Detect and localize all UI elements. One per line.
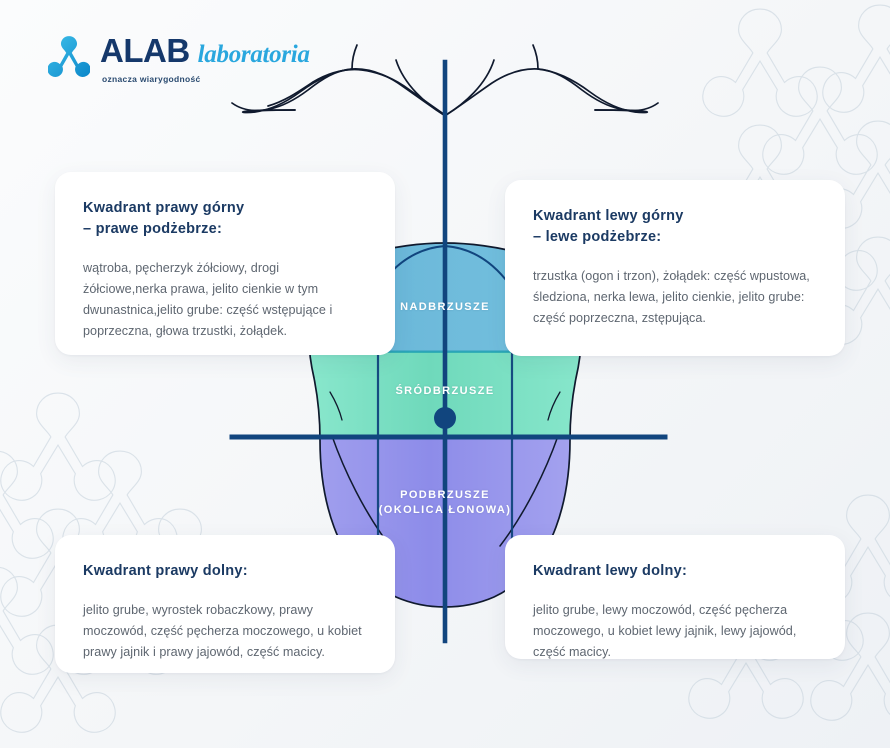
card-ruq-title: Kwadrant prawy górny – prawe podżebrze: [83,198,365,240]
card-right-upper-quadrant: Kwadrant prawy górny – prawe podżebrze: … [55,172,395,355]
card-right-lower-quadrant: Kwadrant prawy dolny: jelito grube, wyro… [55,535,395,673]
logo-wordmark: ALAB laboratoria oznacza wiarygodność [100,30,310,84]
logo-name-italic: laboratoria [198,42,310,67]
region-label-lower: PODBRZUSZE (OKOLICA ŁONOWA) [345,488,545,518]
card-llq-title: Kwadrant lewy dolny: [533,561,815,582]
card-ruq-body: wątroba, pęcherzyk żółciowy, drogi żółci… [83,258,365,342]
navel-dot-icon [434,407,456,429]
card-left-lower-quadrant: Kwadrant lewy dolny: jelito grube, lewy … [505,535,845,659]
card-llq-body: jelito grube, lewy moczowód, część pęche… [533,600,815,663]
card-luq-title: Kwadrant lewy górny – lewe podżebrze: [533,206,815,248]
flank-crease-left [548,392,560,420]
alab-logo[interactable]: ALAB laboratoria oznacza wiarygodność [48,30,310,84]
infographic-canvas: ALAB laboratoria oznacza wiarygodność [0,0,890,748]
card-rlq-body: jelito grube, wyrostek robaczkowy, prawy… [83,600,365,663]
flank-crease-right [330,392,342,420]
region-label-middle: ŚRÓDBRZUSZE [345,384,545,399]
logo-name-bold: ALAB [100,34,190,67]
trefoil-molecule-icon [48,32,90,78]
card-luq-body: trzustka (ogon i trzon), żołądek: część … [533,266,815,329]
logo-tagline: oznacza wiarygodność [100,74,310,84]
card-left-upper-quadrant: Kwadrant lewy górny – lewe podżebrze: tr… [505,180,845,356]
card-rlq-title: Kwadrant prawy dolny: [83,561,365,582]
